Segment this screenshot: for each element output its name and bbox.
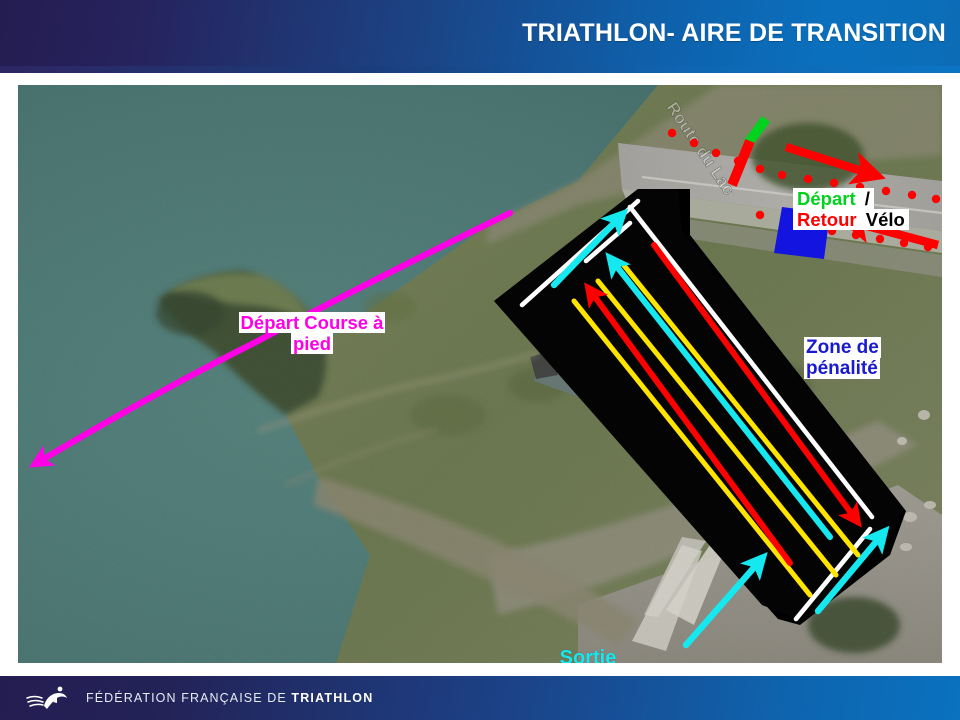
penalty-box	[774, 207, 830, 259]
footer-label-bold: TRIATHLON	[291, 691, 373, 705]
slide-header: TRIATHLON- AIRE DE TRANSITION	[0, 0, 960, 66]
header-underline-bar	[0, 66, 960, 73]
map-svg: Route du Lac	[18, 85, 942, 663]
aerial-map: Route du Lac	[18, 85, 942, 663]
slide-footer: FÉDÉRATION FRANÇAISE DE TRIATHLON	[0, 676, 960, 720]
page-title: TRIATHLON- AIRE DE TRANSITION	[522, 19, 960, 48]
slide-root: TRIATHLON- AIRE DE TRANSITION	[0, 0, 960, 720]
ffft-runner-logo	[26, 684, 72, 712]
footer-label-prefix: FÉDÉRATION FRANÇAISE DE	[86, 691, 291, 705]
footer-label: FÉDÉRATION FRANÇAISE DE TRIATHLON	[86, 691, 373, 705]
